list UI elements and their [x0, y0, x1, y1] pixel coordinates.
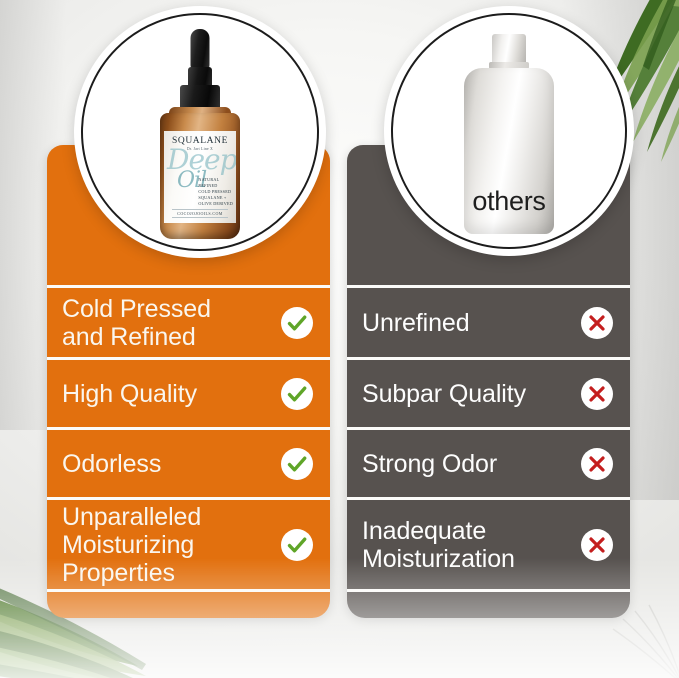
table-row: Subpar Quality [347, 357, 630, 427]
check-icon [280, 377, 314, 411]
others-label-text: others [464, 186, 554, 217]
feature-label: High Quality [62, 380, 272, 408]
table-row: Unparalleled Moisturizing Properties [47, 497, 330, 589]
others-column-footer [347, 589, 630, 618]
feature-label: Cold Pressed and Refined [62, 295, 272, 351]
product-column-footer [47, 589, 330, 618]
table-row: Inadequate Moisturization [347, 497, 630, 589]
product-feature-list: Cold Pressed and Refined High Quality Od… [47, 285, 330, 589]
check-icon [280, 306, 314, 340]
bottle-label: SQUALANE Dr. Jart Line X Deep Oil NATURA… [164, 131, 236, 223]
cross-icon [580, 528, 614, 562]
squalane-oil-bottle: SQUALANE Dr. Jart Line X Deep Oil NATURA… [154, 29, 246, 239]
table-row: Cold Pressed and Refined [47, 285, 330, 357]
bottle-url-text: COCOJOJOOILS.COM [172, 209, 228, 218]
cross-icon [580, 306, 614, 340]
bottle-claims-text: NATURAL REFINED COLD PRESSED SQUALANE + … [198, 177, 233, 207]
feature-label: Inadequate Moisturization [362, 517, 572, 573]
infographic-canvas: Cold Pressed and Refined High Quality Od… [0, 0, 679, 678]
dropper-bulb [191, 29, 210, 71]
cross-icon [580, 377, 614, 411]
product-image-circle: SQUALANE Dr. Jart Line X Deep Oil NATURA… [74, 6, 326, 258]
feature-label: Strong Odor [362, 450, 572, 478]
product-bottle-wrap: SQUALANE Dr. Jart Line X Deep Oil NATURA… [74, 6, 326, 258]
feature-label: Unparalleled Moisturizing Properties [62, 503, 272, 587]
feature-label: Unrefined [362, 309, 572, 337]
others-image-circle: others [384, 6, 634, 256]
others-feature-list: Unrefined Subpar Quality Strong Odor [347, 285, 630, 589]
check-icon [280, 528, 314, 562]
feature-label: Odorless [62, 450, 272, 478]
table-row: High Quality [47, 357, 330, 427]
table-row: Odorless [47, 427, 330, 497]
others-bottle-wrap: others [384, 6, 634, 256]
bottle-body: others [464, 68, 554, 234]
check-icon [280, 447, 314, 481]
table-row: Strong Odor [347, 427, 630, 497]
feature-label: Subpar Quality [362, 380, 572, 408]
table-row: Unrefined [347, 285, 630, 357]
generic-white-bottle: others [459, 34, 559, 234]
cross-icon [580, 447, 614, 481]
bottle-cap [492, 34, 526, 64]
